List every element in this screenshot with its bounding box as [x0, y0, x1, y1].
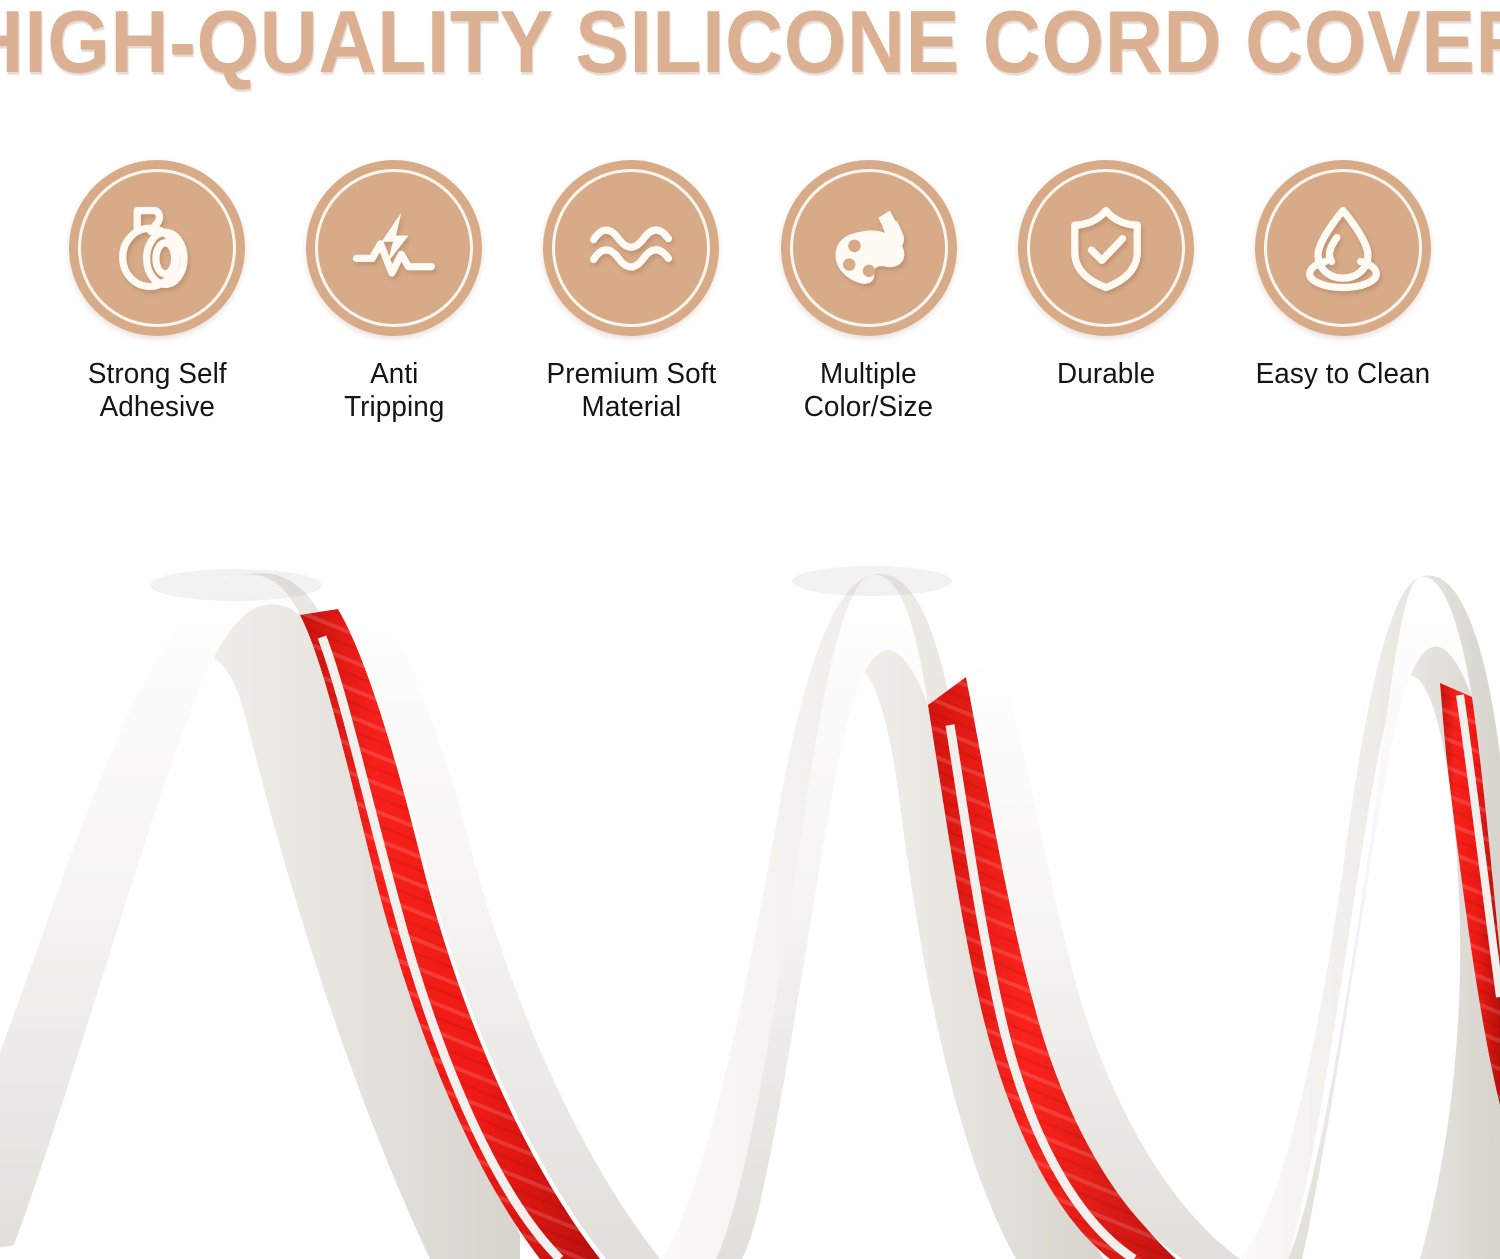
silicone-cord-cover-illustration: [0, 545, 1500, 1259]
feature-label-line1: Strong Self: [88, 358, 227, 390]
feature-badge: [1018, 160, 1194, 336]
feature-label-line1: Multiple: [820, 358, 917, 390]
lightning-pulse-icon: [342, 196, 446, 300]
feature-label-line2: Color/Size: [804, 391, 933, 424]
water-drop-ripple-icon: [1291, 196, 1395, 300]
feature-label-line2: Adhesive: [88, 391, 227, 424]
feature-label-line1: Easy to Clean: [1256, 358, 1431, 390]
feature-list: Strong Self Adhesive Anti Tripping: [0, 160, 1500, 424]
feature-label-line1: Premium Soft: [546, 358, 716, 390]
title-bar: HIGH-QUALITY SILICONE CORD COVER: [0, 0, 1500, 86]
crest-shadow-1: [150, 569, 322, 601]
infographic-page: HIGH-QUALITY SILICONE CORD COVER Strong …: [0, 0, 1500, 1259]
feature-strong-self-adhesive: Strong Self Adhesive: [54, 160, 260, 424]
feature-multiple-color-size: Multiple Color/Size: [766, 160, 972, 424]
tape-roll-icon: [105, 196, 209, 300]
feature-premium-soft-material: Premium Soft Material: [528, 160, 734, 424]
crest-shadow-2: [792, 566, 952, 596]
feature-label: Anti Tripping: [344, 358, 444, 424]
feature-badge: [781, 160, 957, 336]
feature-durable: Durable: [1003, 160, 1209, 424]
feature-label-line2: Material: [546, 391, 716, 424]
page-title: HIGH-QUALITY SILICONE CORD COVER: [0, 0, 1500, 87]
feature-label: Multiple Color/Size: [804, 358, 933, 424]
shield-check-icon: [1054, 196, 1158, 300]
paint-palette-icon: [817, 196, 921, 300]
wave-segment-right-face: [1240, 575, 1500, 1259]
feature-badge: [69, 160, 245, 336]
feature-label: Easy to Clean: [1256, 358, 1431, 391]
feature-label-line1: Anti: [370, 358, 418, 390]
feature-label: Strong Self Adhesive: [88, 358, 227, 424]
feature-badge: [306, 160, 482, 336]
feature-easy-to-clean: Easy to Clean: [1240, 160, 1446, 424]
feature-label-line1: Durable: [1057, 358, 1155, 390]
product-photo: [0, 545, 1500, 1259]
feature-label-line2: Tripping: [344, 391, 444, 424]
feature-anti-tripping: Anti Tripping: [291, 160, 497, 424]
feature-badge: [543, 160, 719, 336]
feature-label: Premium Soft Material: [546, 358, 716, 424]
feature-label: Durable: [1057, 358, 1155, 391]
wavy-lines-icon: [579, 196, 683, 300]
feature-badge: [1255, 160, 1431, 336]
